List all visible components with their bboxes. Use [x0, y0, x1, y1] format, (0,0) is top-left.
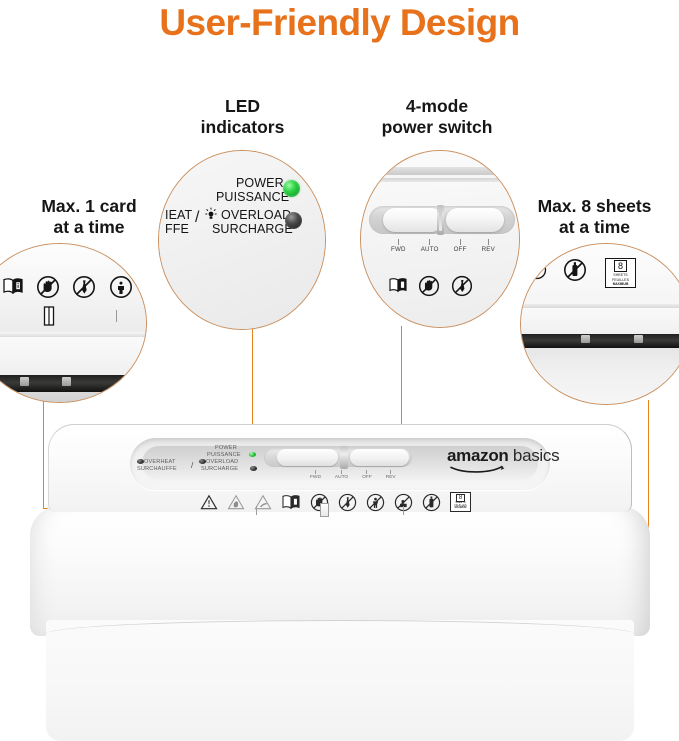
unit-power-switch-hinge — [340, 446, 348, 469]
led-power-lamp — [283, 180, 300, 197]
no-children-icon — [109, 275, 133, 299]
unit-overheat-lamp — [137, 459, 144, 464]
unit-tick-auto: AUTO — [335, 470, 348, 480]
unit-overload-line1: OVERLOAD — [206, 459, 238, 466]
read-manual-icon — [281, 494, 301, 510]
callout-label-switch: 4-mode power switch — [352, 96, 522, 139]
power-switch-knob-right[interactable] — [446, 208, 504, 232]
led-overload-line1: OVERLOAD — [221, 209, 291, 222]
power-switch-knob-left[interactable] — [383, 208, 443, 232]
unit-power-switch-knob-right[interactable] — [350, 449, 409, 466]
no-tie-icon — [451, 275, 473, 297]
unit-power-line2: PUISSANCE — [207, 452, 241, 459]
no-aerosol-icon — [563, 258, 587, 282]
unit-tick-off: OFF — [362, 470, 372, 480]
unit-power-line1: POWER — [215, 445, 237, 452]
unit-overload-line2: SURCHARGE — [201, 466, 238, 473]
max-8-sheets-icon: 8 SHEETS FEUILLES MAXIMUM — [605, 258, 636, 288]
callout-label-led: LED indicators — [160, 96, 325, 139]
unit-slot-tick-right — [403, 506, 404, 515]
unit-panel-separator: / — [191, 461, 193, 471]
led-overload-lamp — [285, 212, 302, 229]
callout-label-sheets: Max. 8 sheets at a time — [510, 196, 679, 239]
unit-tick-rev: REV — [386, 470, 396, 480]
tick-rev: REV — [482, 239, 495, 253]
zoom-bubble-sheet-slot: 8 SHEETS FEUILLES MAXIMUM — [520, 243, 679, 405]
zoom-bubble-power-switch: FWD AUTO OFF REV — [360, 150, 520, 328]
brand-logo-basics: basics — [509, 446, 560, 465]
led-power-line2: PUISSANCE — [216, 191, 289, 204]
waste-bin — [46, 620, 634, 741]
brand-logo-amazon: amazon — [447, 446, 509, 465]
no-hands-icon — [418, 275, 440, 297]
unit-switch-tick-row: FWD AUTO OFF REV — [310, 470, 396, 480]
brand-logo: amazon basics — [447, 446, 559, 466]
unit-overheat-line1: OVERHEAT — [144, 459, 176, 466]
unit-safety-icon-row: 8 SHEETS FEUILLES MAXIMUM — [200, 492, 471, 512]
led-overload-line2: SURCHARGE — [212, 223, 293, 236]
unit-tick-fwd: FWD — [310, 470, 321, 480]
no-tie-icon — [338, 493, 357, 512]
led-power-line1: POWER — [236, 177, 284, 190]
unit-slot-tick-left — [256, 506, 257, 515]
max-8-sheets-icon: 8 SHEETS FEUILLES MAXIMUM — [450, 492, 471, 512]
page-title: User-Friendly Design — [0, 2, 679, 44]
read-manual-icon — [2, 277, 24, 295]
unit-overheat-line2: SURCHAUFFE — [137, 466, 177, 473]
shredder-body — [30, 506, 650, 636]
zoom-bubble-led-indicators: POWER PUISSANCE IEAT FFE / OVERLOAD SURC… — [158, 150, 326, 330]
unit-overload-lamp — [250, 466, 257, 471]
no-tie-icon — [72, 275, 96, 299]
led-separator: / — [195, 209, 199, 227]
unit-power-switch-knob-left[interactable] — [277, 449, 338, 466]
callout-label-card: Max. 1 card at a time — [0, 196, 178, 239]
no-aerosol-icon — [422, 493, 441, 512]
tick-off: OFF — [454, 239, 467, 253]
unit-card-slot-marker — [320, 503, 329, 517]
unit-power-lamp — [249, 452, 256, 457]
warning-general-icon — [200, 494, 218, 510]
no-children-icon — [366, 493, 385, 512]
tick-auto: AUTO — [421, 239, 439, 253]
led-overheat-line1: IEAT — [165, 209, 192, 222]
no-spray-icon — [527, 260, 547, 280]
read-manual-icon — [388, 277, 408, 293]
tick-fwd: FWD — [391, 239, 406, 253]
infographic-canvas: User-Friendly Design Max. 1 card at a ti… — [0, 0, 679, 717]
zoom-bubble-card-slot — [0, 243, 147, 403]
warning-hand-icon — [227, 494, 245, 510]
card-slot-marker-icon — [42, 306, 56, 326]
overheat-bulb-icon — [205, 207, 217, 220]
unit-overload-lamp-dot — [199, 459, 206, 464]
no-hands-icon — [36, 275, 60, 299]
led-overheat-line2: FFE — [165, 223, 189, 236]
power-switch-tick-row: FWD AUTO OFF REV — [391, 239, 495, 253]
power-switch-notch — [439, 209, 442, 231]
